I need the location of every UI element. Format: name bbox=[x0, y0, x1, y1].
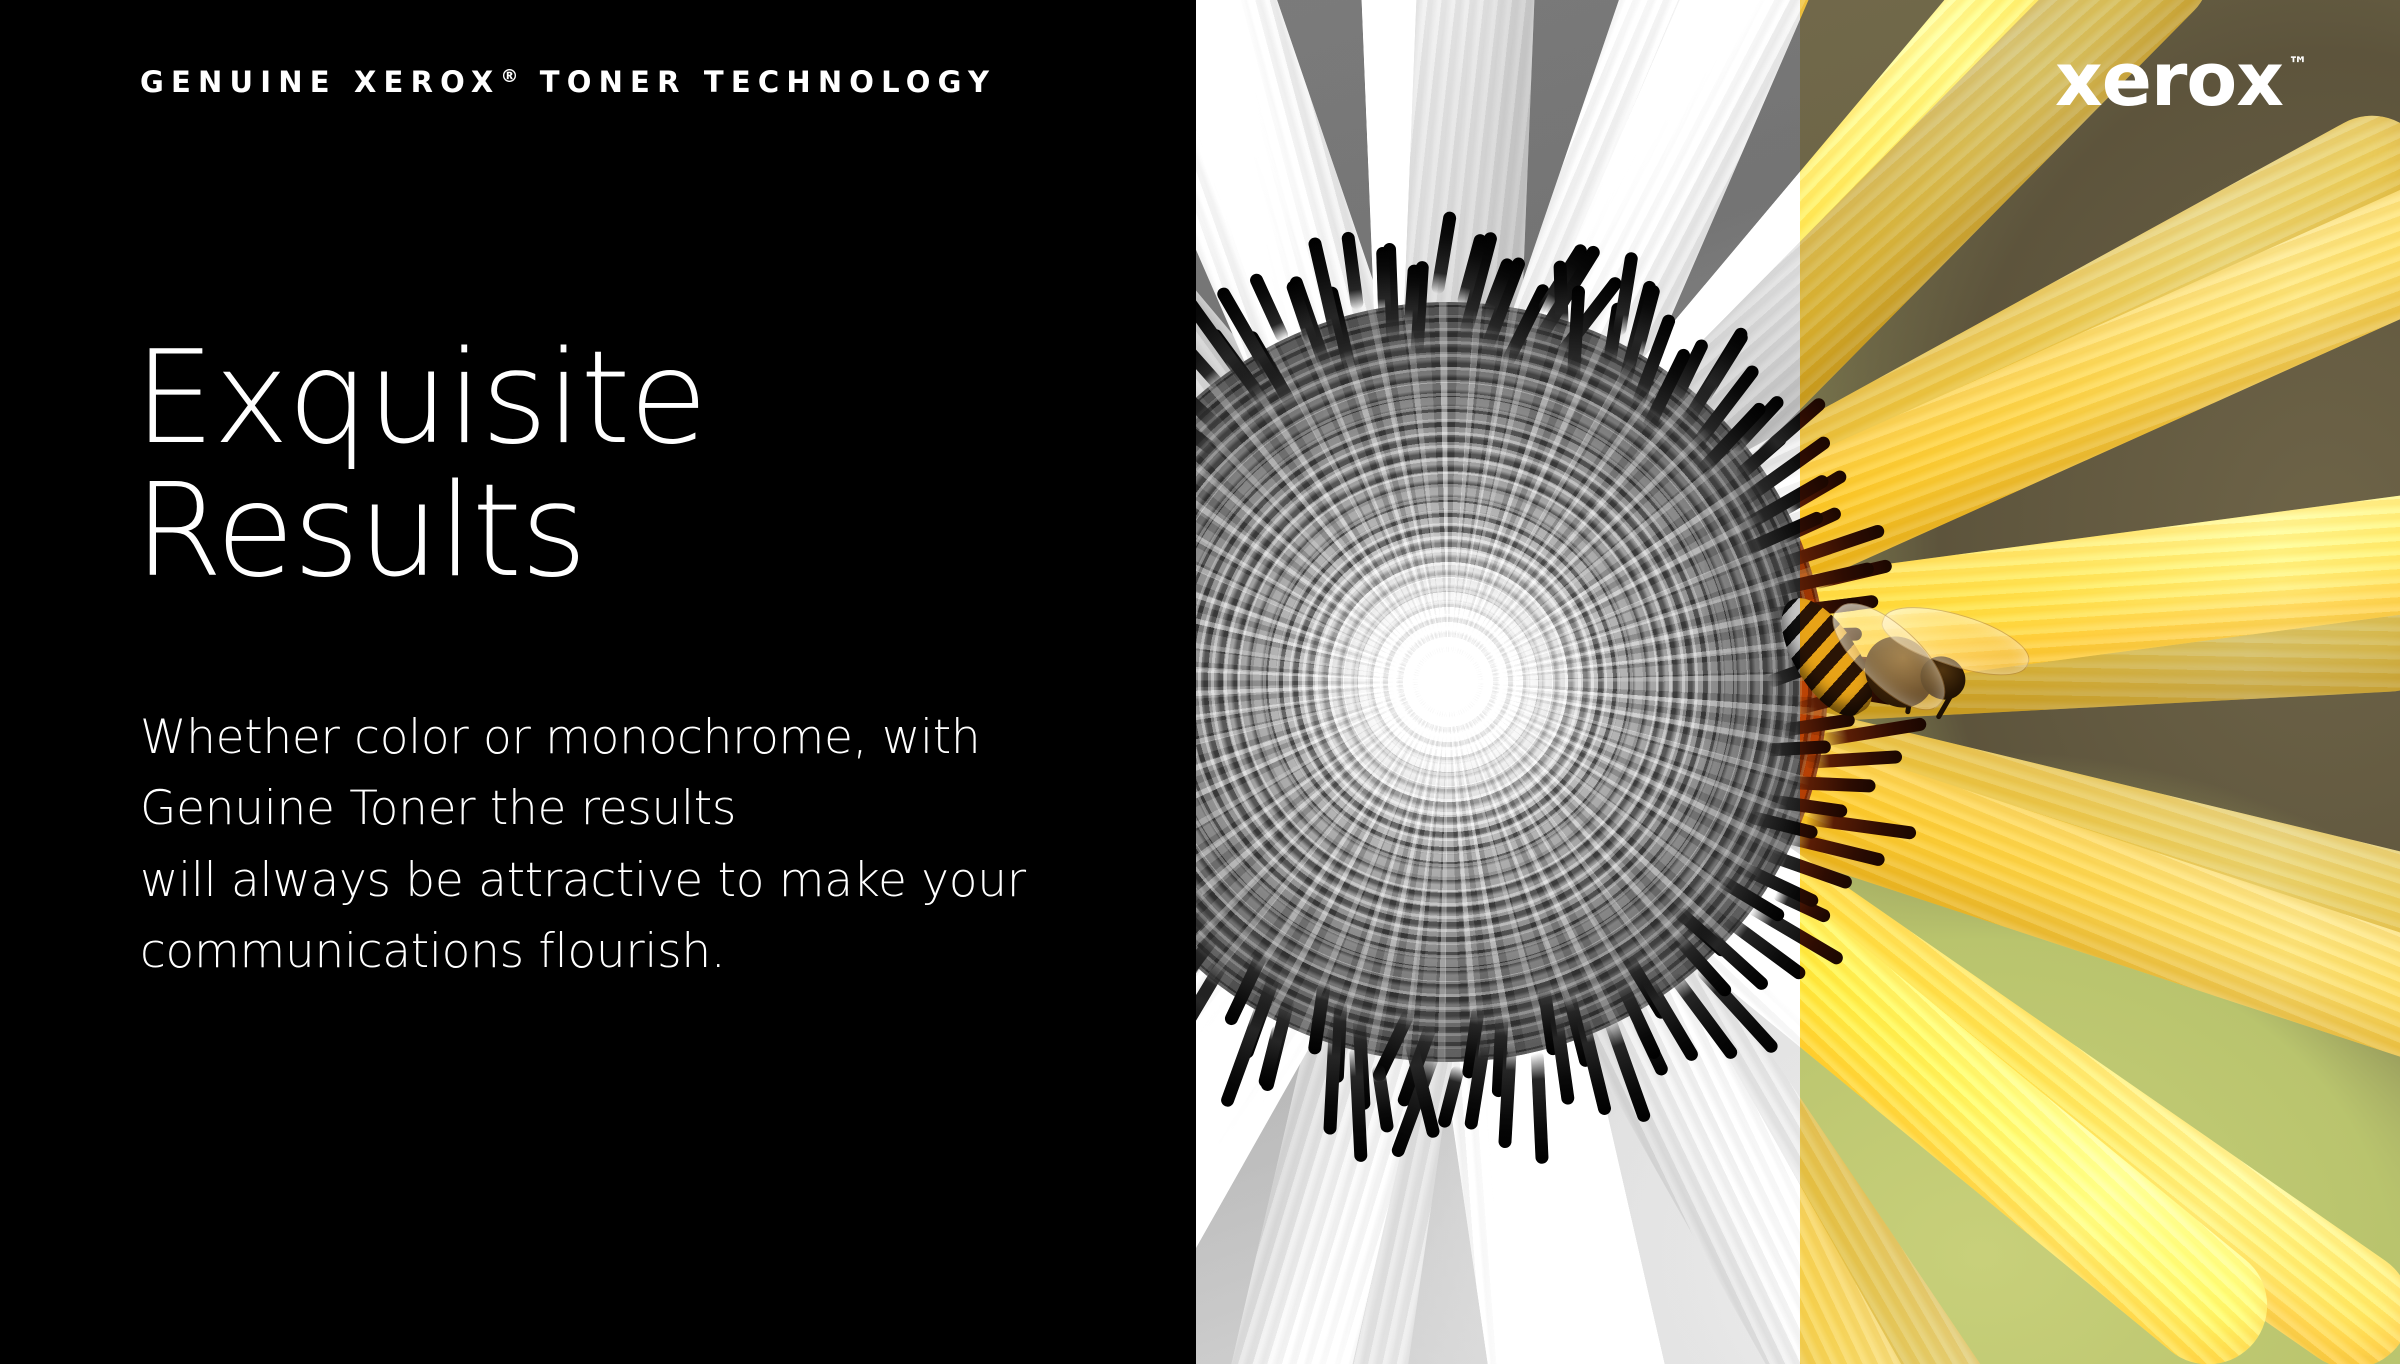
registered-trademark-icon: ® bbox=[500, 66, 522, 87]
trademark-icon: ™ bbox=[2288, 54, 2308, 74]
xerox-logo: xerox ™ bbox=[2055, 46, 2308, 114]
stamen bbox=[1376, 247, 1391, 316]
stamen bbox=[1553, 260, 1568, 330]
text-panel: GENUINE XEROX® TONER TECHNOLOGY Exquisit… bbox=[0, 0, 1196, 1364]
marketing-slide: GENUINE XEROX® TONER TECHNOLOGY Exquisit… bbox=[0, 0, 2400, 1364]
page-title: Exquisite Results bbox=[134, 332, 706, 598]
eyebrow-text-before: GENUINE XEROX bbox=[140, 65, 500, 99]
xerox-wordmark: xerox bbox=[2055, 46, 2283, 114]
sunflower-photo bbox=[1196, 0, 2400, 1364]
eyebrow-heading: GENUINE XEROX® TONER TECHNOLOGY bbox=[140, 68, 996, 97]
body-paragraph: Whether color or monochrome, with Genuin… bbox=[140, 702, 1026, 988]
photo-stage bbox=[1196, 0, 2400, 1364]
eyebrow-text-after: TONER TECHNOLOGY bbox=[522, 65, 996, 99]
